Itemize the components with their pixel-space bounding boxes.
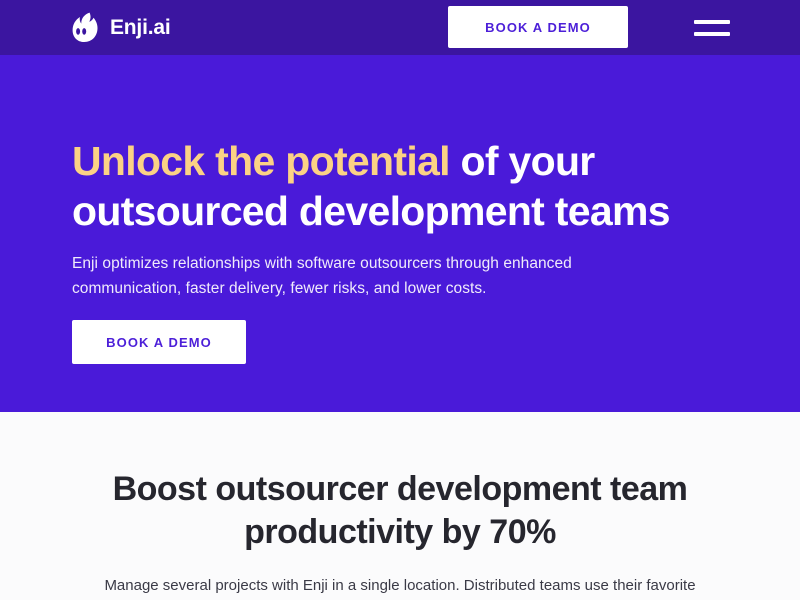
flame-logo-icon (72, 12, 102, 44)
site-header: Enji.ai BOOK A DEMO (0, 0, 800, 55)
hero-subtitle: Enji optimizes relationships with softwa… (72, 252, 637, 302)
brand-logo-link[interactable]: Enji.ai (72, 12, 170, 44)
hero-title: Unlock the potential of your outsourced … (72, 137, 762, 236)
hamburger-bar-2 (694, 32, 730, 36)
page-root: Enji.ai BOOK A DEMO Unlock the potential… (0, 0, 800, 600)
productivity-section-title: Boost outsourcer development team produc… (72, 468, 728, 554)
productivity-section: Boost outsourcer development team produc… (0, 412, 800, 600)
brand-name: Enji.ai (110, 17, 170, 38)
hero-section: Unlock the potential of your outsourced … (0, 55, 800, 412)
header-book-a-demo-button[interactable]: BOOK A DEMO (448, 6, 628, 48)
hamburger-bar-1 (694, 20, 730, 24)
hero-title-accent: Unlock the potential (72, 138, 450, 184)
productivity-section-body: Manage several projects with Enji in a s… (90, 574, 710, 600)
hero-book-a-demo-button[interactable]: BOOK A DEMO (72, 320, 246, 364)
hamburger-menu-icon[interactable] (694, 15, 732, 41)
